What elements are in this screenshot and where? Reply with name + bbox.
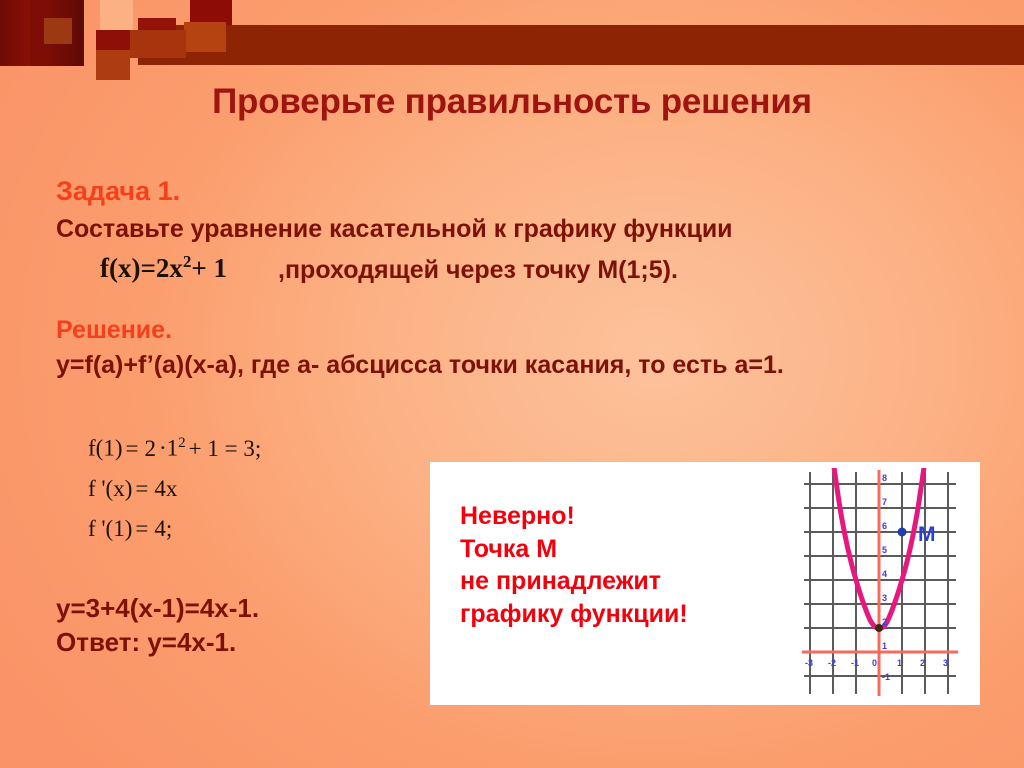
x-tick-3: 3 bbox=[943, 658, 948, 668]
answer-derivation: y=3+4(x-1)=4x-1. bbox=[56, 592, 259, 626]
math-step-1-exponent: 2 bbox=[178, 435, 186, 451]
task-function-formula: f(x)=2x2+ 1 bbox=[100, 252, 227, 284]
math-step-3-rhs: 4; bbox=[151, 516, 175, 541]
header-square-8 bbox=[96, 50, 130, 80]
math-step-1-coefficient: 2 bbox=[141, 436, 159, 461]
math-step-1-base: 1 bbox=[167, 436, 179, 461]
point-m-marker bbox=[898, 528, 907, 537]
parabola-graph: М 8 7 6 5 4 3 2 1 -1 -3 -2 -1 bbox=[800, 468, 960, 698]
y-tick-4: 4 bbox=[882, 569, 887, 579]
header-left-block-gradient bbox=[0, 0, 30, 66]
task-label: Задача 1. bbox=[56, 176, 180, 207]
formula-term: 2x bbox=[156, 253, 183, 283]
task-statement: Составьте уравнение касательной к график… bbox=[56, 214, 976, 244]
solution-label: Решение. bbox=[56, 316, 172, 345]
header-square-1 bbox=[44, 18, 72, 44]
x-tick-1: 1 bbox=[897, 658, 902, 668]
math-step-3: f '(1)=4; bbox=[88, 517, 264, 540]
feedback-message: Неверно! Точка М не принадлежит графику … bbox=[460, 500, 688, 630]
math-step-2: f '(x)=4x bbox=[88, 477, 264, 500]
math-step-2-rhs: 4x bbox=[151, 476, 180, 501]
math-step-1-equals: = bbox=[122, 436, 141, 461]
point-m-label: М bbox=[918, 523, 936, 546]
y-tick-3: 3 bbox=[882, 593, 887, 603]
x-tick-2: 2 bbox=[920, 658, 925, 668]
feedback-panel: Неверно! Точка М не принадлежит графику … bbox=[430, 462, 980, 705]
math-step-3-equals: = bbox=[132, 516, 151, 541]
x-tick-minus2: -2 bbox=[828, 658, 836, 668]
x-tick-labels: -3 -2 -1 0 1 2 3 bbox=[805, 658, 948, 668]
math-steps: f(1)=2·12+ 1 = 3; f '(x)=4x f '(1)=4; bbox=[88, 436, 264, 557]
x-tick-minus1: -1 bbox=[851, 658, 859, 668]
y-tick-6: 6 bbox=[882, 521, 887, 531]
math-step-1-tail: + 1 = 3; bbox=[186, 436, 265, 461]
answer-block: y=3+4(x-1)=4x-1. Ответ: y=4x-1. bbox=[56, 592, 259, 660]
slide-title: Проверьте правильность решения bbox=[0, 82, 1024, 123]
formula-lhs: f(x) bbox=[100, 253, 140, 283]
math-step-1: f(1)=2·12+ 1 = 3; bbox=[88, 436, 264, 460]
x-tick-0: 0 bbox=[872, 658, 877, 668]
formula-tail: + 1 bbox=[191, 253, 227, 283]
math-step-2-lhs: f '(x) bbox=[88, 476, 132, 501]
answer-final: Ответ: y=4x-1. bbox=[56, 626, 259, 660]
header-square-5 bbox=[184, 22, 226, 52]
y-tick-8: 8 bbox=[882, 473, 887, 483]
y-tick-5: 5 bbox=[882, 545, 887, 555]
header-bar-gradient bbox=[700, 25, 1024, 65]
math-step-2-equals: = bbox=[132, 476, 151, 501]
header-square-7 bbox=[130, 30, 186, 58]
math-step-3-lhs: f '(1) bbox=[88, 516, 132, 541]
y-tick-1: 1 bbox=[882, 641, 887, 651]
y-tick-2: 2 bbox=[882, 617, 887, 627]
math-step-1-dot: · bbox=[159, 436, 167, 461]
formula-equals: = bbox=[140, 253, 155, 283]
solution-statement: y=f(a)+f’(a)(x-a), где a- абсцисса точки… bbox=[56, 350, 956, 381]
graph-svg: М 8 7 6 5 4 3 2 1 -1 -3 -2 -1 bbox=[800, 468, 960, 698]
slide-canvas: Проверьте правильность решения Задача 1.… bbox=[0, 0, 1024, 768]
y-tick-7: 7 bbox=[882, 497, 887, 507]
y-tick-minus1: -1 bbox=[882, 672, 890, 682]
task-statement-continued: ,проходящей через точку М(1;5). bbox=[278, 256, 678, 285]
math-step-1-lhs: f(1) bbox=[88, 436, 122, 461]
x-tick-minus3: -3 bbox=[805, 658, 813, 668]
